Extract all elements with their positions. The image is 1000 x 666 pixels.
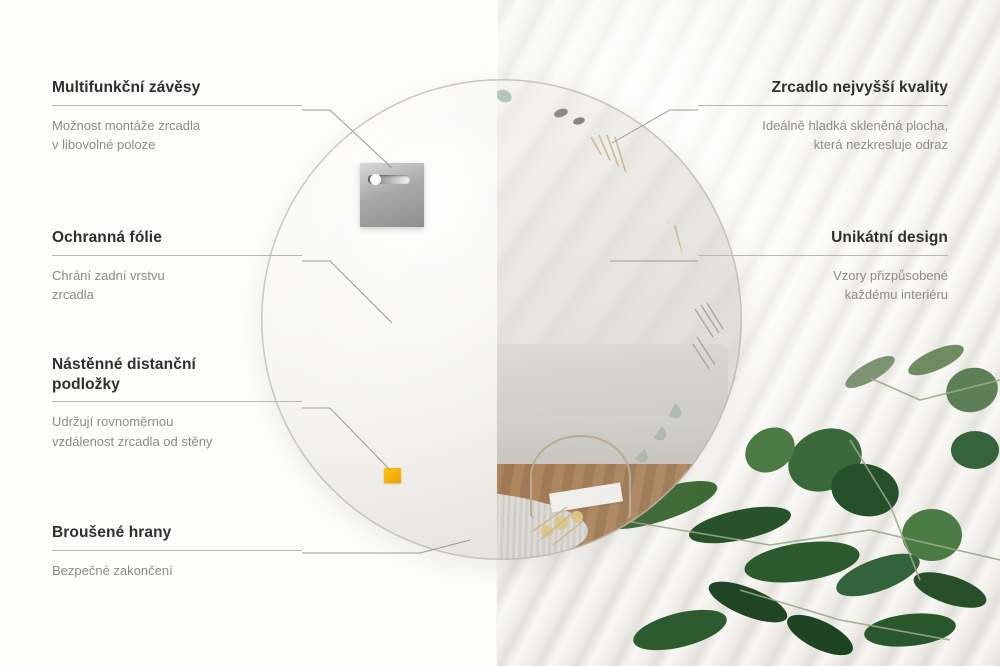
callout-pads-desc-line2: vzdálenost zrcadla od stěny [52, 434, 212, 449]
wall-hanger-plate [360, 163, 424, 227]
callout-hangers-desc-line1: Možnost montáže zrcadla [52, 118, 200, 133]
callout-hangers-rule [52, 105, 302, 106]
callout-hangers-desc-line2: v libovolné poloze [52, 137, 155, 152]
callout-design-description: Vzory přizpůsobené každému interiéru [698, 266, 948, 305]
callout-foil-rule [52, 255, 302, 256]
round-mirror [261, 79, 742, 560]
callout-pads-rule [52, 401, 302, 402]
callout-edges-rule [52, 550, 302, 551]
callout-edges-description: Bezpečné zakončení [52, 561, 302, 581]
callout-foil-desc-line2: zrcadla [52, 287, 94, 302]
callout-design-rule [698, 255, 948, 256]
callout-pads-title-line2: podložky [52, 376, 120, 393]
callout-quality-desc-line2: která nezkresluje odraz [814, 137, 948, 152]
callout-pads-title: Nástěnné distanční podložky [52, 355, 302, 394]
infographic-canvas: Multifunkční závěsy Možnost montáže zrca… [0, 0, 1000, 666]
callout-hangers-description: Možnost montáže zrcadla v libovolné polo… [52, 116, 302, 155]
callout-foil: Ochranná fólie Chrání zadní vrstvu zrcad… [52, 228, 302, 305]
callout-quality-description: Ideálně hladká skleněná plocha, která ne… [698, 116, 948, 155]
callout-pads-desc-line1: Udržují rovnoměrnou [52, 414, 173, 429]
callout-quality: Zrcadlo nejvyšší kvality Ideálně hladká … [698, 78, 948, 155]
hanger-keyhole-slot [368, 175, 410, 185]
callout-pads-title-line1: Nástěnné distanční [52, 356, 196, 373]
callout-design-desc-line2: každému interiéru [845, 287, 948, 302]
callout-quality-title: Zrcadlo nejvyšší kvality [698, 78, 948, 98]
callout-design-title: Unikátní design [698, 228, 948, 248]
callout-foil-desc-line1: Chrání zadní vrstvu [52, 268, 165, 283]
callout-foil-description: Chrání zadní vrstvu zrcadla [52, 266, 302, 305]
callout-foil-title: Ochranná fólie [52, 228, 302, 248]
wall-spacer-pad [384, 468, 401, 483]
callout-pads-description: Udržují rovnoměrnou vzdálenost zrcadla o… [52, 412, 302, 451]
callout-quality-desc-line1: Ideálně hladká skleněná plocha, [762, 118, 948, 133]
callout-hangers: Multifunkční závěsy Možnost montáže zrca… [52, 78, 302, 155]
callout-edges: Broušené hrany Bezpečné zakončení [52, 523, 302, 580]
callout-edges-desc-line1: Bezpečné zakončení [52, 563, 173, 578]
callout-design: Unikátní design Vzory přizpůsobené každé… [698, 228, 948, 305]
callout-pads: Nástěnné distanční podložky Udržují rovn… [52, 355, 302, 451]
callout-design-desc-line1: Vzory přizpůsobené [833, 268, 948, 283]
callout-quality-rule [698, 105, 948, 106]
callout-hangers-title: Multifunkční závěsy [52, 78, 302, 98]
callout-edges-title: Broušené hrany [52, 523, 302, 543]
